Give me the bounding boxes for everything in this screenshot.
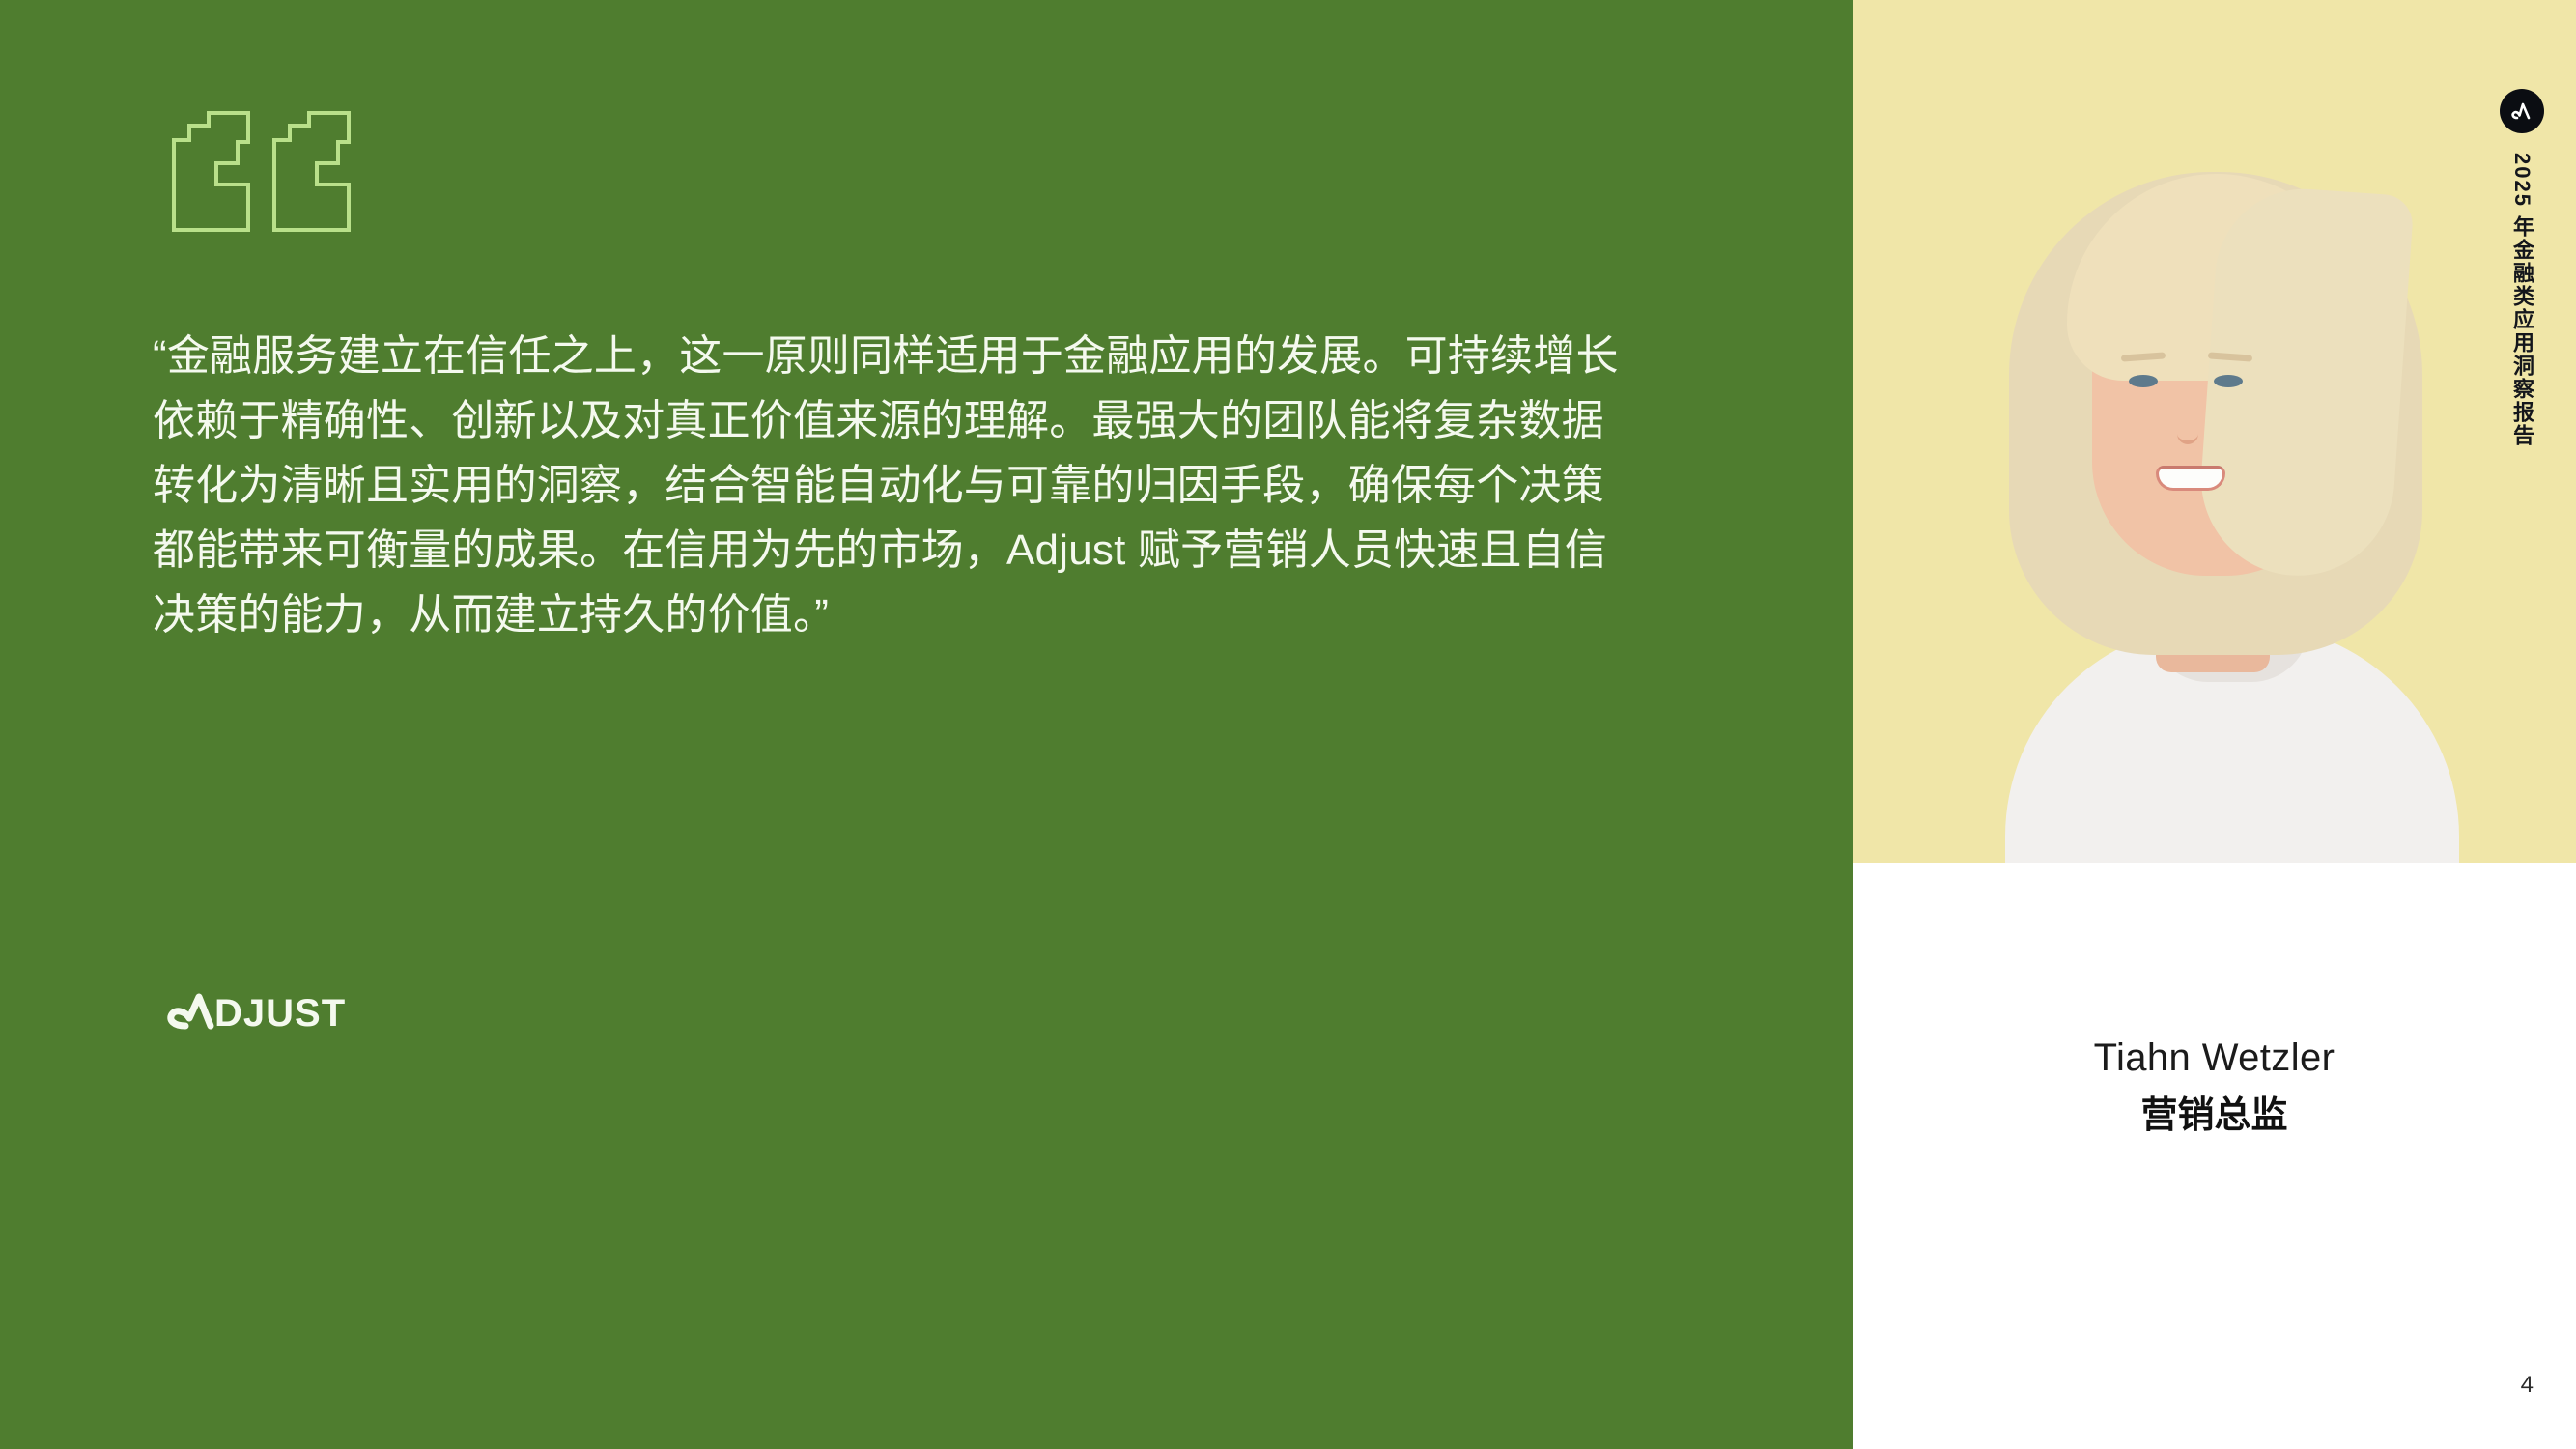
svg-text:DJUST: DJUST bbox=[214, 992, 346, 1034]
speaker-caption: Tiahn Wetzler 营销总监 bbox=[1853, 1034, 2576, 1140]
portrait-eye-left bbox=[2129, 375, 2158, 387]
portrait-nose bbox=[2177, 412, 2198, 444]
portrait-eye-right bbox=[2214, 375, 2243, 387]
adjust-logo: DJUST ADJUST bbox=[155, 983, 386, 1034]
report-title-vertical: 2025 年金融类应用洞察报告 bbox=[2506, 153, 2537, 447]
page-number: 4 bbox=[2521, 1372, 2534, 1399]
side-rail: 2025 年金融类应用洞察报告 bbox=[2493, 89, 2551, 447]
quote-text: “金融服务建立在信任之上，这一原则同样适用于金融应用的发展。可持续增长依赖于精确… bbox=[153, 325, 1630, 647]
slide-root: “金融服务建立在信任之上，这一原则同样适用于金融应用的发展。可持续增长依赖于精确… bbox=[0, 0, 2576, 1449]
green-panel: “金融服务建立在信任之上，这一原则同样适用于金融应用的发展。可持续增长依赖于精确… bbox=[0, 0, 1853, 1449]
portrait-block: 2025 年金融类应用洞察报告 bbox=[1853, 0, 2576, 863]
portrait-mouth bbox=[2156, 466, 2225, 491]
avatar bbox=[1967, 122, 2469, 863]
adjust-badge-icon bbox=[2500, 89, 2544, 133]
speaker-role: 营销总监 bbox=[1853, 1094, 2576, 1140]
speaker-name: Tiahn Wetzler bbox=[1853, 1034, 2576, 1082]
quote-mark-icon bbox=[155, 101, 396, 246]
right-column: 2025 年金融类应用洞察报告 Tiahn Wetzler 营销总监 4 bbox=[1853, 0, 2576, 1449]
